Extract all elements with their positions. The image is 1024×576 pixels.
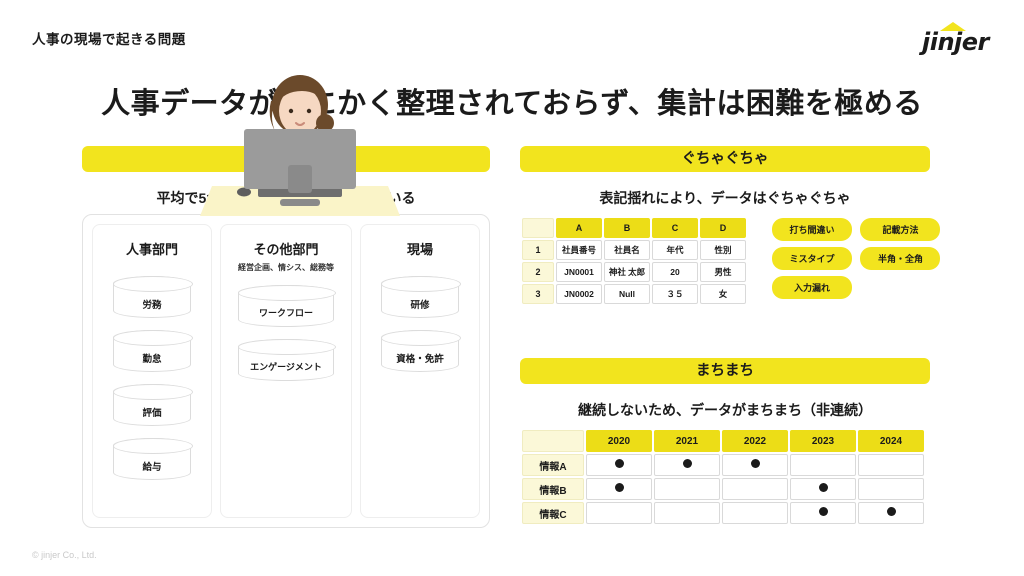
matrix-row-label: 情報C	[522, 502, 584, 524]
system-cylinder: 給与	[113, 438, 191, 480]
pill-hankaku-zenkaku: 半角・全角	[860, 247, 940, 270]
matrix-cell	[858, 454, 924, 476]
matrix-cell	[586, 454, 652, 476]
cell[interactable]: 神社 太郎	[604, 262, 650, 282]
column-genba: 現場 研修 資格・免許	[360, 224, 480, 518]
column-header-a[interactable]: A	[556, 218, 602, 238]
panel-machimachi-band: まちまち	[520, 358, 930, 384]
filled-dot-icon	[751, 459, 760, 468]
year-header-2022: 2022	[722, 430, 788, 452]
system-cylinder: 資格・免許	[381, 330, 459, 372]
table-row: 3 JN0002 Null ３５ 女	[522, 284, 746, 304]
department-columns: 人事部門 労務 勤怠 評価 給与 その他部門 経営企画、情シス、総務等 ワークフ…	[82, 214, 490, 528]
column-subtitle: 経営企画、情シス、総務等	[221, 262, 351, 273]
filled-dot-icon	[819, 507, 828, 516]
matrix-cell	[858, 478, 924, 500]
year-header-2023: 2023	[790, 430, 856, 452]
copyright-footer: © jinjer Co., Ltd.	[32, 550, 97, 560]
system-cylinder: ワークフロー	[238, 285, 334, 327]
column-jinji-bumon: 人事部門 労務 勤怠 評価 給与	[92, 224, 212, 518]
filled-dot-icon	[819, 483, 828, 492]
panel-guchaguch-band: ぐちゃぐちゃ	[520, 146, 930, 172]
matrix-row-label: 情報B	[522, 478, 584, 500]
system-label: 労務	[114, 297, 190, 311]
system-label: 研修	[382, 297, 458, 311]
matrix-cell	[858, 502, 924, 524]
pill-nyuuryokumore: 入力漏れ	[772, 276, 852, 299]
system-label: 資格・免許	[382, 351, 458, 365]
cell[interactable]: 性別	[700, 240, 746, 260]
year-header-2024: 2024	[858, 430, 924, 452]
table-row: 情報C	[522, 502, 924, 524]
person-at-computer-illustration	[200, 53, 400, 218]
cell[interactable]: Null	[604, 284, 650, 304]
year-matrix: 2020 2021 2022 2023 2024 情報A 情報B	[520, 428, 926, 526]
system-cylinder: エンゲージメント	[238, 339, 334, 381]
filled-dot-icon	[683, 459, 692, 468]
year-header-2020: 2020	[586, 430, 652, 452]
matrix-cell	[586, 502, 652, 524]
table-header-row: 2020 2021 2022 2023 2024	[522, 430, 924, 452]
filled-dot-icon	[887, 507, 896, 516]
cell[interactable]: 女	[700, 284, 746, 304]
row-number[interactable]: 3	[522, 284, 554, 304]
system-cylinder: 勤怠	[113, 330, 191, 372]
cell[interactable]: 年代	[652, 240, 698, 260]
column-sonota-bumon: その他部門 経営企画、情シス、総務等 ワークフロー エンゲージメント	[220, 224, 352, 518]
system-cylinder: 評価	[113, 384, 191, 426]
panel-barabara: ばらばら 平均で5つの人事システムに分散している 人事部門 労務 勤怠 評価 給…	[82, 146, 490, 208]
spreadsheet: A B C D 1 社員番号 社員名 年代 性別 2 JN0001 神社 太郎 …	[520, 216, 748, 306]
filled-dot-icon	[615, 483, 624, 492]
cell[interactable]: 20	[652, 262, 698, 282]
cell[interactable]: 男性	[700, 262, 746, 282]
slide-root: 人事の現場で起きる問題 jinjer 人事データがとにかく整理されておらず、集計…	[0, 0, 1024, 576]
table-row: 情報A	[522, 454, 924, 476]
slide-kicker: 人事の現場で起きる問題	[32, 28, 186, 48]
matrix-cell	[790, 454, 856, 476]
page-title: 人事データがとにかく整理されておらず、集計は困難を極める	[0, 80, 1024, 122]
column-header-c[interactable]: C	[652, 218, 698, 238]
panel-guchaguch: ぐちゃぐちゃ 表記揺れにより、データはぐちゃぐちゃ A B C D 1 社員番号…	[520, 146, 930, 208]
column-title: その他部門	[221, 239, 351, 258]
row-number[interactable]: 2	[522, 262, 554, 282]
system-label: 勤怠	[114, 351, 190, 365]
cell[interactable]: 社員名	[604, 240, 650, 260]
panel-guchaguch-caption: 表記揺れにより、データはぐちゃぐちゃ	[520, 188, 930, 208]
matrix-cell	[722, 454, 788, 476]
row-number[interactable]: 1	[522, 240, 554, 260]
logo-wordmark: jinjer	[922, 28, 989, 56]
matrix-cell	[654, 478, 720, 500]
table-row: 1 社員番号 社員名 年代 性別	[522, 240, 746, 260]
matrix-corner	[522, 430, 584, 452]
matrix-cell	[722, 502, 788, 524]
error-pill-group: 打ち間違い 記載方法 ミスタイプ 半角・全角 入力漏れ	[772, 218, 952, 305]
pill-uchimachigai: 打ち間違い	[772, 218, 852, 241]
column-title: 現場	[361, 239, 479, 258]
table-row: 2 JN0001 神社 太郎 20 男性	[522, 262, 746, 282]
matrix-cell	[586, 478, 652, 500]
column-header-d[interactable]: D	[700, 218, 746, 238]
system-label: 給与	[114, 459, 190, 473]
table-header-row: A B C D	[522, 218, 746, 238]
system-cylinder: 研修	[381, 276, 459, 318]
system-label: 評価	[114, 405, 190, 419]
column-title: 人事部門	[93, 239, 211, 258]
system-label: エンゲージメント	[239, 360, 333, 373]
column-header-b[interactable]: B	[604, 218, 650, 238]
cell[interactable]: JN0001	[556, 262, 602, 282]
pill-kisaihouhou: 記載方法	[860, 218, 940, 241]
filled-dot-icon	[615, 459, 624, 468]
matrix-cell	[722, 478, 788, 500]
year-header-2021: 2021	[654, 430, 720, 452]
cell[interactable]: 社員番号	[556, 240, 602, 260]
system-cylinder: 労務	[113, 276, 191, 318]
matrix-cell	[790, 502, 856, 524]
matrix-cell	[790, 478, 856, 500]
cell[interactable]: ３５	[652, 284, 698, 304]
matrix-row-label: 情報A	[522, 454, 584, 476]
spreadsheet-corner	[522, 218, 554, 238]
panel-machimachi: まちまち 継続しないため、データがまちまち（非連続） 2020 2021 202…	[520, 358, 930, 420]
table-row: 情報B	[522, 478, 924, 500]
panel-machimachi-caption: 継続しないため、データがまちまち（非連続）	[520, 400, 930, 420]
matrix-cell	[654, 454, 720, 476]
matrix-cell	[654, 502, 720, 524]
system-label: ワークフロー	[239, 306, 333, 319]
cell[interactable]: JN0002	[556, 284, 602, 304]
jinjer-logo: jinjer	[922, 22, 994, 56]
pill-misutype: ミスタイプ	[772, 247, 852, 270]
